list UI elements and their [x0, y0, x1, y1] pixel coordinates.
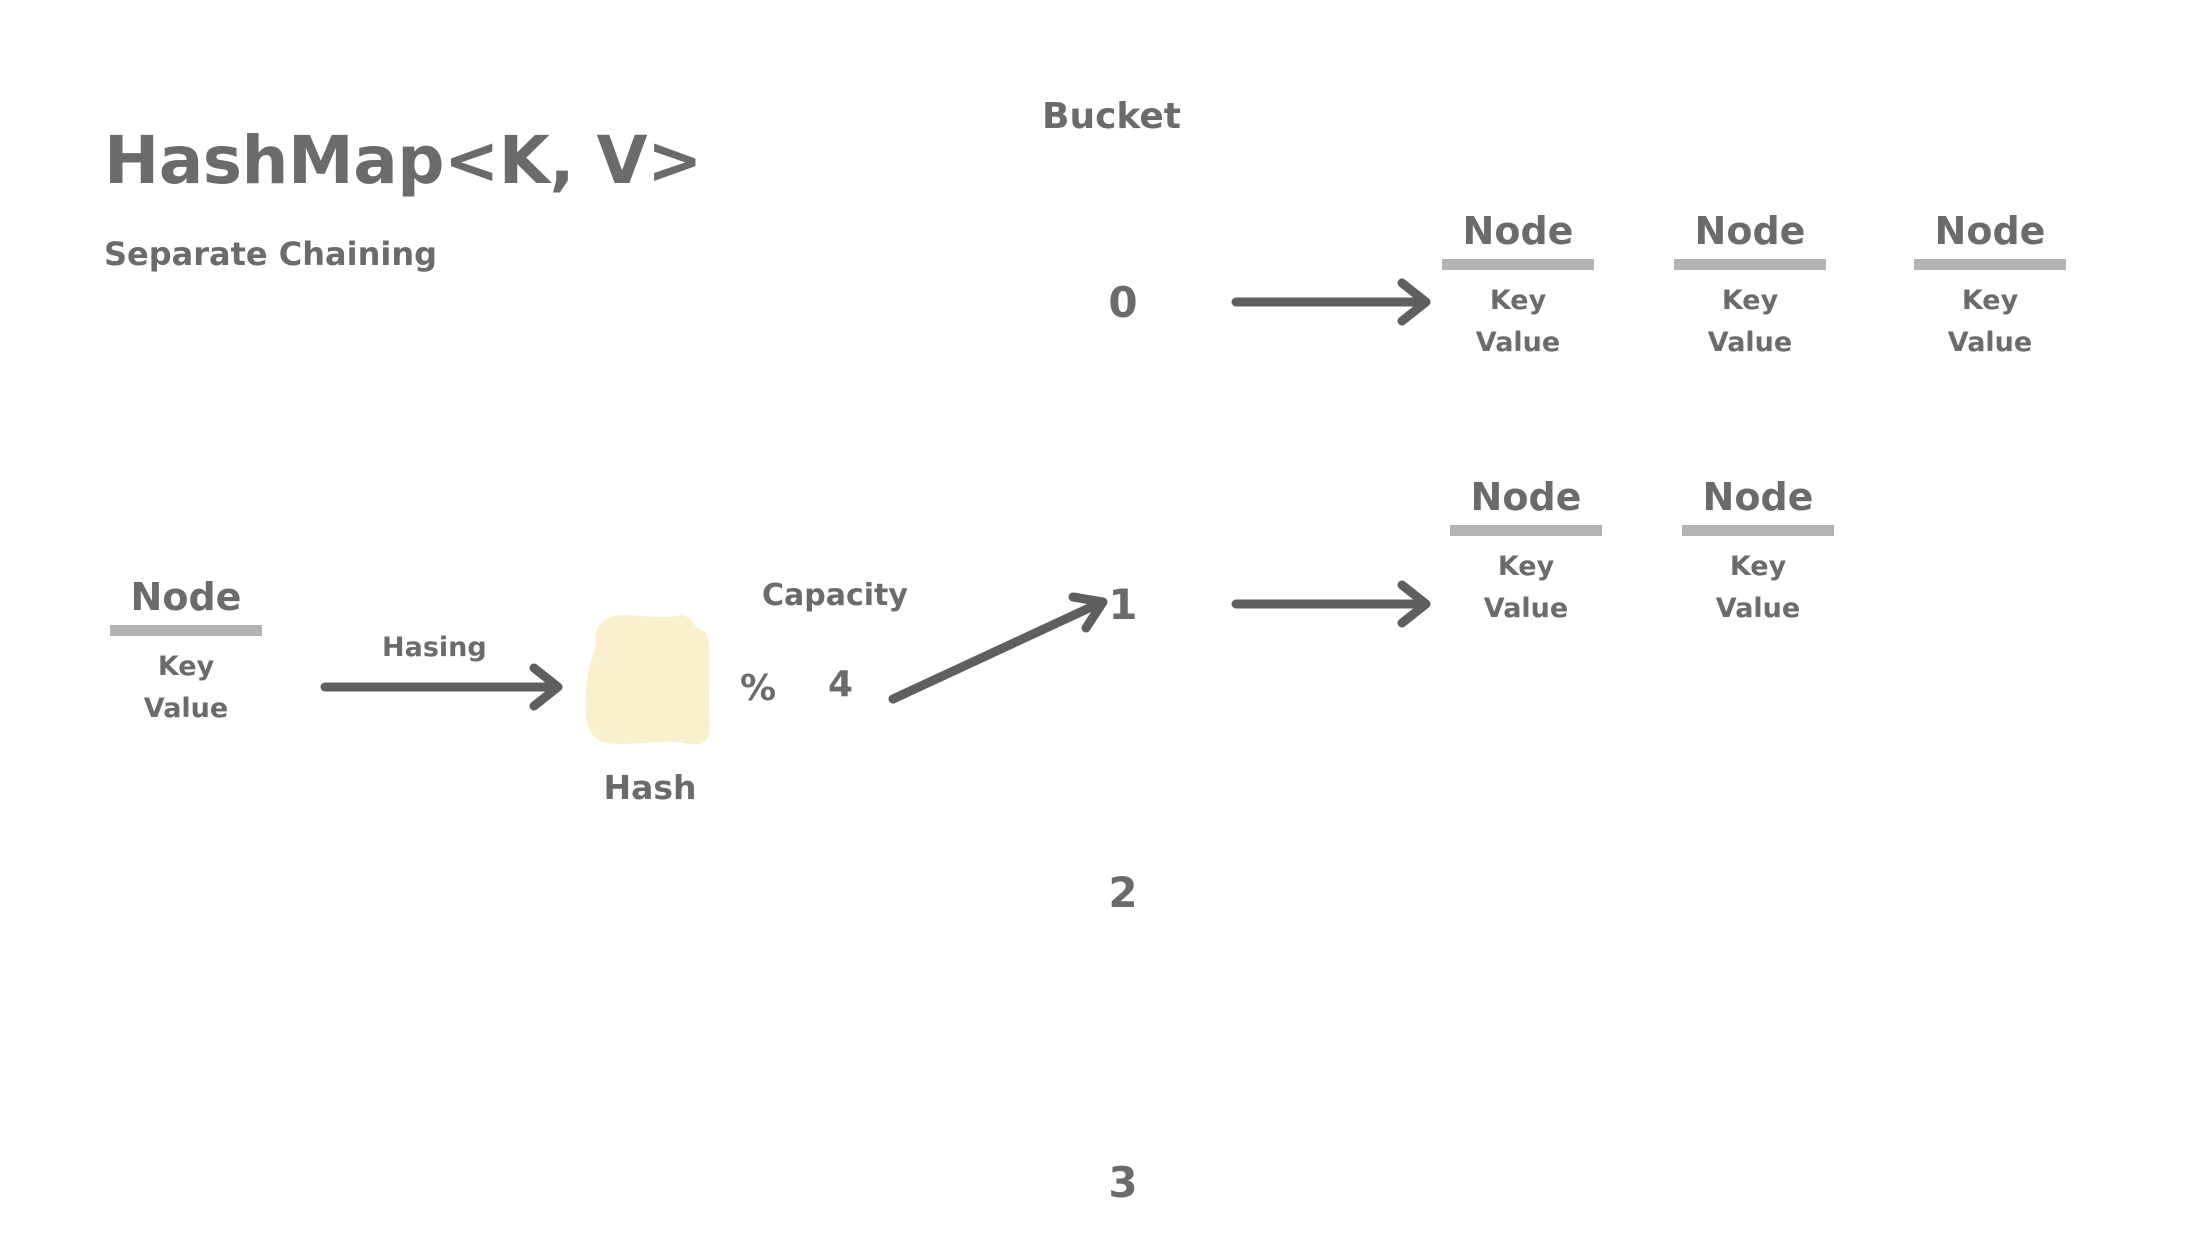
node-divider: [1682, 525, 1834, 536]
hash-label: Hash: [588, 768, 712, 807]
node-title: Node: [1438, 212, 1598, 252]
node-key: Key: [1446, 546, 1606, 588]
page-title: HashMap<K, V>: [104, 122, 702, 199]
bucket-index-0: 0: [1100, 278, 1146, 327]
hash-blob: [585, 615, 709, 745]
bucket-1-node-1: Node Key Value: [1678, 478, 1838, 630]
node-key: Key: [106, 646, 266, 688]
node-key: Key: [1438, 280, 1598, 322]
node-title: Node: [106, 578, 266, 618]
node-divider: [110, 625, 262, 636]
diagram-canvas: HashMap<K, V> Separate Chaining Bucket N…: [0, 0, 2198, 1244]
bucket-1-arrow: [1236, 585, 1426, 623]
node-key: Key: [1910, 280, 2070, 322]
node-value: Value: [1438, 322, 1598, 364]
node-value: Value: [106, 688, 266, 730]
page-subtitle: Separate Chaining: [104, 235, 437, 273]
node-divider: [1914, 259, 2066, 270]
input-node: Node Key Value: [106, 578, 266, 730]
node-title: Node: [1910, 212, 2070, 252]
node-divider: [1674, 259, 1826, 270]
bucket-column-header: Bucket: [1042, 96, 1181, 137]
node-value: Value: [1446, 588, 1606, 630]
bucket-0-node-0: Node Key Value: [1438, 212, 1598, 364]
node-title: Node: [1670, 212, 1830, 252]
hashing-arrow-label: Hasing: [382, 632, 487, 663]
bucket-0-node-1: Node Key Value: [1670, 212, 1830, 364]
modulo-symbol: %: [740, 668, 776, 709]
node-divider: [1450, 525, 1602, 536]
bucket-index-1: 1: [1100, 580, 1146, 629]
capacity-value: 4: [828, 664, 853, 705]
node-title: Node: [1446, 478, 1606, 518]
node-key: Key: [1670, 280, 1830, 322]
modulo-result-arrow: [893, 597, 1103, 699]
node-value: Value: [1910, 322, 2070, 364]
capacity-label: Capacity: [762, 578, 908, 613]
hashing-arrow: [325, 668, 558, 706]
bucket-index-2: 2: [1100, 868, 1146, 917]
node-key: Key: [1678, 546, 1838, 588]
node-value: Value: [1670, 322, 1830, 364]
node-divider: [1442, 259, 1594, 270]
bucket-1-node-0: Node Key Value: [1446, 478, 1606, 630]
bucket-0-node-2: Node Key Value: [1910, 212, 2070, 364]
node-value: Value: [1678, 588, 1838, 630]
node-title: Node: [1678, 478, 1838, 518]
bucket-0-arrow: [1236, 283, 1426, 321]
bucket-index-3: 3: [1100, 1158, 1146, 1207]
